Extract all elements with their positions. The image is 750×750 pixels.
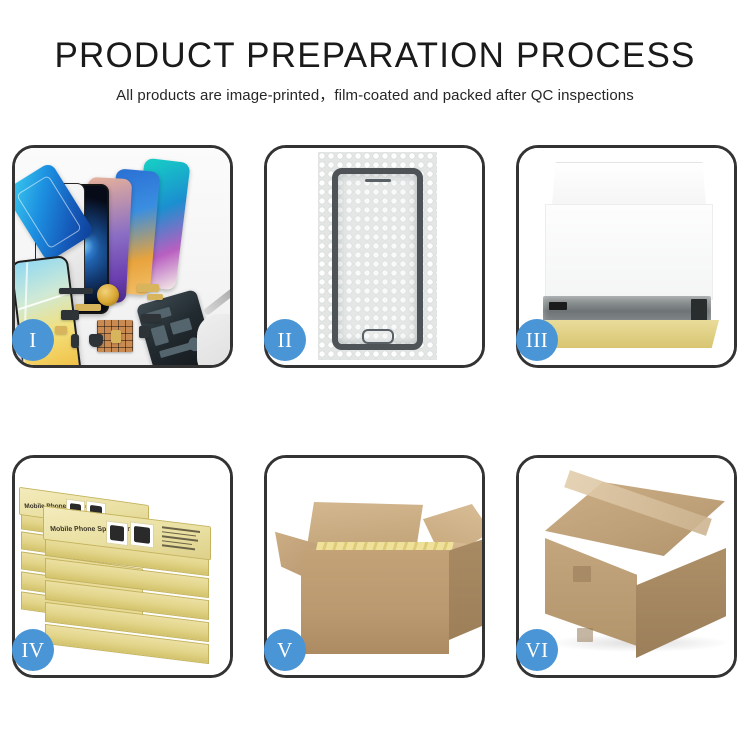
step-badge-1: I: [12, 319, 54, 361]
flex-cable-c: [75, 304, 101, 311]
step-badge-2: II: [264, 319, 306, 361]
process-step-panel-3[interactable]: III: [516, 145, 737, 368]
process-step-panel-4[interactable]: Mobile Phone Spare Parts Mobile Phone Sp…: [12, 455, 233, 678]
copper-coil: [97, 284, 119, 306]
home-button-slot: [362, 329, 394, 344]
wrapped-screen: [332, 168, 423, 350]
hand-holding-phone: [197, 314, 230, 365]
connector-c: [139, 326, 149, 338]
step-badge-6: VI: [516, 629, 558, 671]
process-step-panel-6[interactable]: VI: [516, 455, 737, 678]
foam-insert: [545, 204, 713, 300]
step-badge-3: III: [516, 319, 558, 361]
speaker-part: [89, 334, 103, 347]
carton-side-face: [449, 536, 482, 640]
connector-a: [61, 310, 79, 320]
sim-tray: [55, 326, 67, 334]
step-badge-4: IV: [12, 629, 54, 671]
bubble-wrap-sheet: [318, 152, 437, 360]
step-badge-5: V: [264, 629, 306, 671]
carton-tab-lower: [577, 628, 593, 642]
camera-part: [111, 330, 121, 343]
flex-cable-b: [147, 294, 163, 300]
connector-b: [141, 314, 161, 322]
process-step-grid: I II III: [0, 0, 750, 750]
flex-cable-a: [137, 284, 159, 292]
box-window-right-b: [130, 521, 154, 548]
earpiece-slot: [365, 179, 391, 182]
carton-tab-upper: [573, 566, 591, 582]
kraft-box-front: [537, 320, 719, 348]
process-step-panel-5[interactable]: V: [264, 455, 485, 678]
button-part: [71, 334, 79, 348]
process-step-panel-2[interactable]: II: [264, 145, 485, 368]
box-spec-lines: [162, 526, 202, 553]
dark-part-strip: [59, 288, 93, 294]
box-window-right-a: [106, 520, 128, 546]
carton-front-face: [301, 550, 449, 654]
process-step-panel-1[interactable]: I: [12, 145, 233, 368]
